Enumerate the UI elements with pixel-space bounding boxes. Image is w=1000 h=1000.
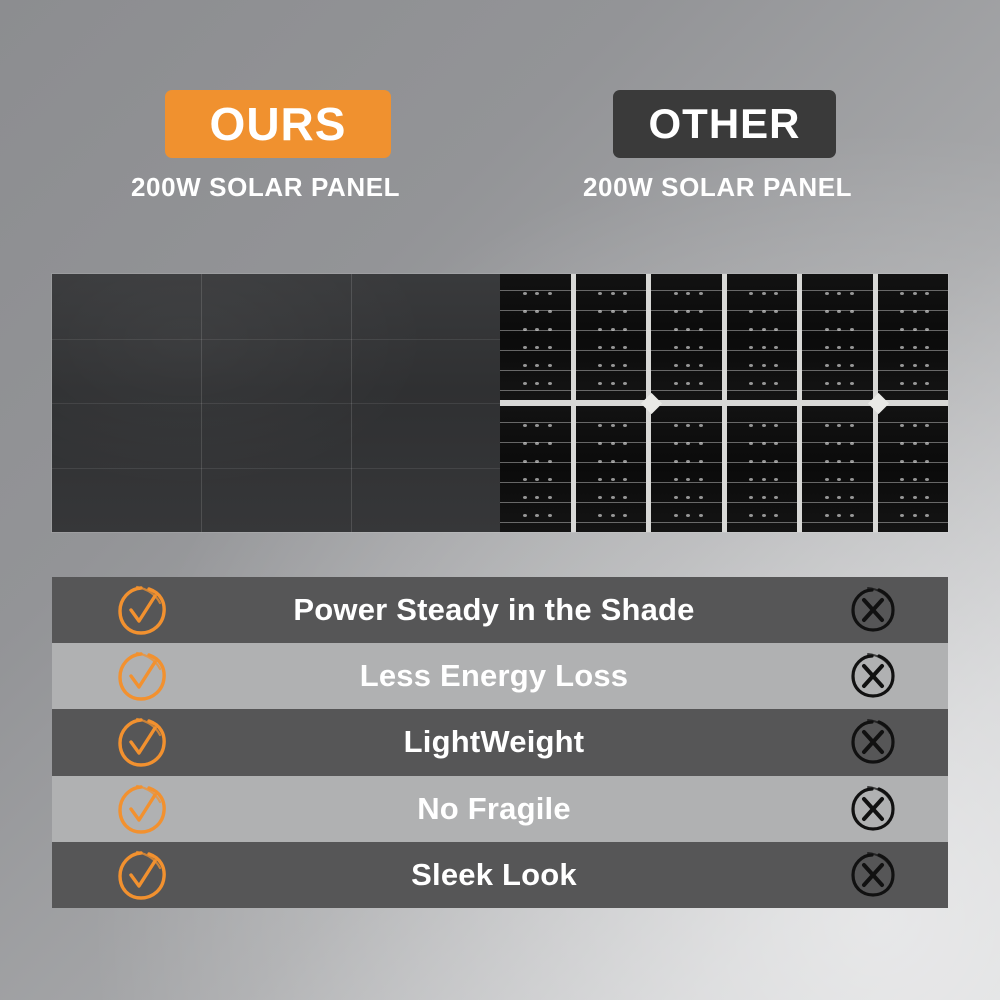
panel-grid-line-horizontal — [52, 403, 500, 404]
feature-label: Less Energy Loss — [232, 658, 798, 694]
busbar-solder-dot — [825, 460, 829, 463]
ours-mark-cell — [52, 583, 232, 637]
busbar-solder-dot — [762, 364, 766, 367]
busbar-solder-dot — [913, 442, 917, 445]
busbar-solder-dot — [850, 478, 854, 481]
busbar-solder-dot — [762, 346, 766, 349]
busbar-solder-dot — [762, 424, 766, 427]
busbar-solder-dot — [699, 460, 703, 463]
cross-circle-icon — [850, 651, 896, 701]
busbar-solder-dot — [825, 478, 829, 481]
busbar-solder-dot — [548, 310, 552, 313]
cross-circle-icon — [850, 850, 896, 900]
other-panel-photo — [500, 274, 948, 532]
busbar-solder-dot — [611, 478, 615, 481]
busbar-solder-dot — [699, 478, 703, 481]
ours-mark-cell — [52, 848, 232, 902]
busbar-solder-dot — [523, 382, 527, 385]
busbar-solder-dot — [611, 514, 615, 517]
busbar-solder-dot — [548, 292, 552, 295]
busbar-solder-dot — [913, 328, 917, 331]
busbar-solder-dot — [825, 328, 829, 331]
other-mark-cell — [798, 651, 948, 701]
busbar-solder-dot — [762, 310, 766, 313]
busbar-solder-dot — [611, 292, 615, 295]
feature-label: Power Steady in the Shade — [232, 592, 798, 628]
ours-badge: OURS — [165, 90, 391, 158]
busbar-solder-dot — [523, 292, 527, 295]
check-circle-icon — [117, 782, 167, 836]
busbar-solder-dot — [913, 310, 917, 313]
other-mark-cell — [798, 784, 948, 834]
ours-badge-label: OURS — [210, 97, 347, 151]
other-subtitle: 200W SOLAR PANEL — [583, 172, 852, 203]
panel-grid-line-horizontal — [52, 468, 500, 469]
busbar-solder-dot — [523, 346, 527, 349]
ours-mark-cell — [52, 649, 232, 703]
other-badge-label: OTHER — [649, 100, 801, 148]
check-circle-icon — [117, 848, 167, 902]
busbar-solder-dot — [674, 310, 678, 313]
busbar-solder-dot — [548, 424, 552, 427]
busbar-solder-dot — [523, 364, 527, 367]
busbar-solder-dot — [762, 478, 766, 481]
busbar-solder-dot — [762, 442, 766, 445]
feature-label: Sleek Look — [232, 857, 798, 893]
ours-mark-cell — [52, 715, 232, 769]
busbar-solder-dot — [850, 424, 854, 427]
busbar-solder-dot — [825, 382, 829, 385]
feature-label: LightWeight — [232, 724, 798, 760]
busbar-solder-dot — [913, 382, 917, 385]
busbar-solder-dot — [699, 328, 703, 331]
busbar-solder-dot — [611, 382, 615, 385]
busbar-solder-dot — [611, 364, 615, 367]
busbar-solder-dot — [913, 514, 917, 517]
busbar-solder-dot — [699, 310, 703, 313]
table-row: LightWeight — [52, 709, 948, 775]
busbar-solder-dot — [850, 496, 854, 499]
table-row: Sleek Look — [52, 842, 948, 908]
panel-grid-line-horizontal — [52, 339, 500, 340]
comparison-infographic: OURS 200W SOLAR PANEL OTHER 200W SOLAR P… — [0, 0, 1000, 1000]
busbar-solder-dot — [548, 478, 552, 481]
busbar-solder-dot — [825, 424, 829, 427]
busbar-solder-dot — [674, 328, 678, 331]
busbar-solder-dot — [674, 382, 678, 385]
busbar-solder-dot — [611, 442, 615, 445]
table-row: Power Steady in the Shade — [52, 577, 948, 643]
busbar-solder-dot — [611, 496, 615, 499]
busbar-solder-dot — [523, 424, 527, 427]
busbar-solder-dot — [762, 460, 766, 463]
busbar-solder-dot — [548, 514, 552, 517]
busbar-solder-dot — [699, 364, 703, 367]
busbar-solder-dot — [523, 460, 527, 463]
busbar-solder-dot — [699, 382, 703, 385]
check-circle-icon — [117, 649, 167, 703]
busbar-solder-dot — [523, 478, 527, 481]
other-badge: OTHER — [613, 90, 836, 158]
busbar-solder-dot — [699, 514, 703, 517]
busbar-solder-dot — [699, 346, 703, 349]
busbar-solder-dot — [523, 328, 527, 331]
busbar-solder-dot — [548, 346, 552, 349]
other-mark-cell — [798, 717, 948, 767]
busbar-solder-dot — [825, 496, 829, 499]
busbar-solder-dot — [523, 514, 527, 517]
busbar-solder-dot — [850, 382, 854, 385]
busbar-solder-dot — [913, 292, 917, 295]
ours-subtitle: 200W SOLAR PANEL — [131, 172, 400, 203]
busbar-solder-dot — [548, 328, 552, 331]
busbar-solder-dot — [611, 328, 615, 331]
busbar-solder-dot — [674, 460, 678, 463]
feature-comparison-table: Power Steady in the ShadeLess Energy Los… — [52, 577, 948, 908]
busbar-solder-dot — [850, 292, 854, 295]
busbar-solder-dot — [850, 310, 854, 313]
busbar-solder-dot — [674, 442, 678, 445]
busbar-solder-dot — [674, 496, 678, 499]
busbar-solder-dot — [699, 424, 703, 427]
busbar-solder-dot — [825, 292, 829, 295]
check-circle-icon — [117, 715, 167, 769]
busbar-solder-dot — [762, 382, 766, 385]
busbar-solder-dot — [850, 346, 854, 349]
busbar-solder-dot — [762, 292, 766, 295]
busbar-solder-dot — [850, 442, 854, 445]
busbar-solder-dot — [913, 424, 917, 427]
busbar-solder-dot — [825, 514, 829, 517]
cross-circle-icon — [850, 585, 896, 635]
ours-panel-photo — [52, 274, 500, 532]
busbar-solder-dot — [674, 346, 678, 349]
busbar-solder-dot — [699, 496, 703, 499]
cross-circle-icon — [850, 784, 896, 834]
busbar-solder-dot — [611, 460, 615, 463]
busbar-solder-dot — [699, 442, 703, 445]
busbar-solder-dot — [850, 514, 854, 517]
busbar-solder-dot — [674, 514, 678, 517]
panel-comparison-image — [52, 274, 948, 532]
busbar-solder-dot — [548, 442, 552, 445]
busbar-solder-dot — [611, 346, 615, 349]
busbar-solder-dot — [913, 364, 917, 367]
busbar-solder-dot — [825, 346, 829, 349]
busbar-solder-dot — [523, 442, 527, 445]
busbar-solder-dot — [913, 478, 917, 481]
other-mark-cell — [798, 850, 948, 900]
busbar-solder-dot — [674, 364, 678, 367]
busbar-solder-dot — [825, 364, 829, 367]
busbar-solder-dot — [523, 496, 527, 499]
busbar-solder-dot — [611, 310, 615, 313]
busbar-solder-dot — [523, 310, 527, 313]
busbar-solder-dot — [850, 328, 854, 331]
busbar-solder-dot — [548, 364, 552, 367]
busbar-solder-dot — [825, 442, 829, 445]
busbar-solder-dot — [548, 496, 552, 499]
busbar-solder-dot — [850, 364, 854, 367]
busbar-solder-dot — [674, 292, 678, 295]
busbar-solder-dot — [548, 382, 552, 385]
busbar-solder-dot — [699, 292, 703, 295]
busbar-solder-dot — [611, 424, 615, 427]
busbar-solder-dot — [762, 328, 766, 331]
feature-label: No Fragile — [232, 791, 798, 827]
busbar-solder-dot — [674, 478, 678, 481]
busbar-solder-dot — [548, 460, 552, 463]
table-row: Less Energy Loss — [52, 643, 948, 709]
cross-circle-icon — [850, 717, 896, 767]
busbar-solder-dot — [762, 496, 766, 499]
busbar-solder-dot — [913, 460, 917, 463]
busbar-solder-dot — [913, 346, 917, 349]
busbar-solder-dot — [913, 496, 917, 499]
table-row: No Fragile — [52, 776, 948, 842]
busbar-solder-dot — [674, 424, 678, 427]
busbar-solder-dot — [762, 514, 766, 517]
ours-mark-cell — [52, 782, 232, 836]
busbar-solder-dot — [850, 460, 854, 463]
check-circle-icon — [117, 583, 167, 637]
busbar-solder-dot — [825, 310, 829, 313]
other-mark-cell — [798, 585, 948, 635]
